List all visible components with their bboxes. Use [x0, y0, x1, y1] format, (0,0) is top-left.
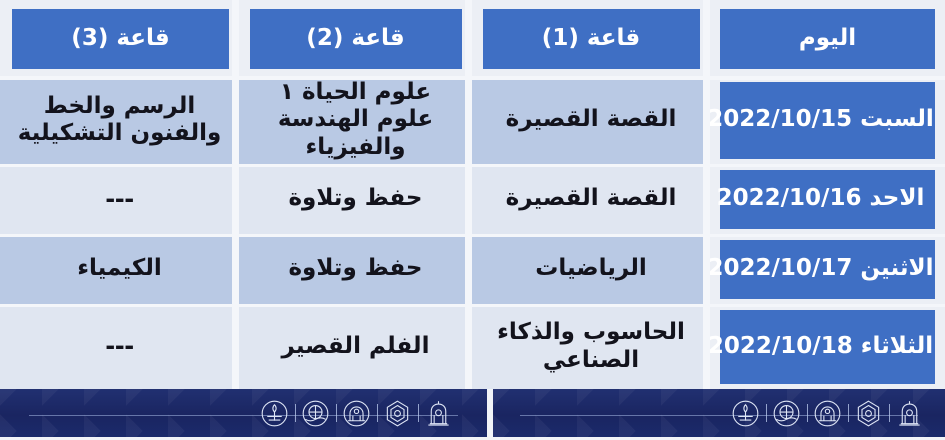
emblem-globe-wave-icon: [772, 399, 801, 428]
row-0-hall-1-label: القصة القصيرة: [478, 106, 704, 133]
row-0-day-label: السبت 2022/10/15: [720, 82, 935, 159]
row-1-hall-3-cell: ---: [0, 164, 239, 234]
row-2-day-label: الاثنين 2022/10/17: [720, 240, 935, 299]
emblem-shrine-dome-icon: [813, 399, 842, 428]
footer-banner-left: [0, 389, 487, 437]
emblem-separator: [883, 403, 895, 423]
row-0-hall-3-cell: الرسم والخط والفنون التشكيلية: [0, 76, 239, 164]
row-1-day-label: الاحد 2022/10/16: [720, 170, 935, 229]
row-1-day-cell: الاحد 2022/10/16: [710, 164, 945, 234]
row-0-day-cell: السبت 2022/10/15: [710, 76, 945, 164]
emblem-globe-wave-icon: [301, 399, 330, 428]
column-header-hall-3-label: قاعة (3): [12, 9, 229, 69]
row-3-hall-1-label: الحاسوب والذكاء الصناعي: [478, 319, 704, 373]
emblem-mosque-gateway-icon: [895, 399, 924, 428]
row-3-hall-2-label: الفلم القصير: [245, 333, 466, 360]
row-3-day-label: الثلاثاء 2022/10/18: [720, 310, 935, 384]
emblem-hexagon-seal-icon: [383, 399, 412, 428]
row-0-hall-1-cell: القصة القصيرة: [472, 76, 710, 164]
emblem-separator: [760, 403, 772, 423]
row-1-hall-3-label: ---: [6, 185, 233, 213]
row-2-hall-3-cell: الكيمياء: [0, 234, 239, 304]
column-header-day-label: اليوم: [720, 9, 935, 69]
row-0-hall-2-cell: علوم الحياة ١ علوم الهندسة والفيزياء: [239, 76, 472, 164]
schedule-screenshot: اليوم قاعة (1) قاعة (2) قاعة (3) السبت 2…: [0, 0, 945, 440]
column-header-hall-3: قاعة (3): [0, 0, 239, 76]
emblem-separator: [842, 403, 854, 423]
row-2-hall-2-label: حفظ وتلاوة: [245, 255, 466, 282]
row-2-hall-1-label: الرياضيات: [478, 255, 704, 282]
row-1-hall-1-cell: القصة القصيرة: [472, 164, 710, 234]
row-1-hall-2-cell: حفظ وتلاوة: [239, 164, 472, 234]
exam-schedule-table: اليوم قاعة (1) قاعة (2) قاعة (3) السبت 2…: [0, 0, 945, 389]
emblem-separator: [371, 403, 383, 423]
column-header-hall-2-label: قاعة (2): [250, 9, 462, 69]
row-2-hall-3-label: الكيمياء: [6, 255, 233, 282]
column-header-hall-1-label: قاعة (1): [483, 9, 700, 69]
row-1-hall-2-label: حفظ وتلاوة: [245, 185, 466, 212]
row-2-hall-2-cell: حفظ وتلاوة: [239, 234, 472, 304]
emblem-mosque-gateway-icon: [424, 399, 453, 428]
emblem-separator: [330, 403, 342, 423]
emblem-shrine-dome-icon: [342, 399, 371, 428]
row-1-hall-1-label: القصة القصيرة: [478, 185, 704, 212]
emblem-separator: [289, 403, 301, 423]
column-header-day: اليوم: [710, 0, 945, 76]
row-3-day-cell: الثلاثاء 2022/10/18: [710, 304, 945, 389]
emblem-institute-crest-icon: [731, 399, 760, 428]
emblem-hexagon-seal-icon: [854, 399, 883, 428]
row-0-hall-2-label: علوم الحياة ١ علوم الهندسة والفيزياء: [245, 79, 466, 160]
table-row: السبت 2022/10/15 القصة القصيرة علوم الحي…: [0, 76, 945, 164]
column-header-hall-1: قاعة (1): [472, 0, 710, 76]
emblem-institute-crest-icon: [260, 399, 289, 428]
emblem-separator: [412, 403, 424, 423]
table-header-row: اليوم قاعة (1) قاعة (2) قاعة (3): [0, 0, 945, 76]
row-3-hall-3-cell: ---: [0, 304, 239, 389]
row-2-hall-1-cell: الرياضيات: [472, 234, 710, 304]
table-row: الاحد 2022/10/16 القصة القصيرة حفظ وتلاو…: [0, 164, 945, 234]
row-0-hall-3-label: الرسم والخط والفنون التشكيلية: [6, 93, 233, 147]
emblem-separator: [801, 403, 813, 423]
emblem-strip-right: [731, 389, 924, 437]
footer-banner-right: [493, 389, 945, 437]
table-row: الثلاثاء 2022/10/18 الحاسوب والذكاء الصن…: [0, 304, 945, 389]
row-3-hall-2-cell: الفلم القصير: [239, 304, 472, 389]
row-2-day-cell: الاثنين 2022/10/17: [710, 234, 945, 304]
row-3-hall-1-cell: الحاسوب والذكاء الصناعي: [472, 304, 710, 389]
column-header-hall-2: قاعة (2): [239, 0, 472, 76]
row-3-hall-3-label: ---: [6, 332, 233, 360]
table-row: الاثنين 2022/10/17 الرياضيات حفظ وتلاوة …: [0, 234, 945, 304]
emblem-strip-left: [260, 389, 453, 437]
footer-region: [0, 389, 945, 440]
